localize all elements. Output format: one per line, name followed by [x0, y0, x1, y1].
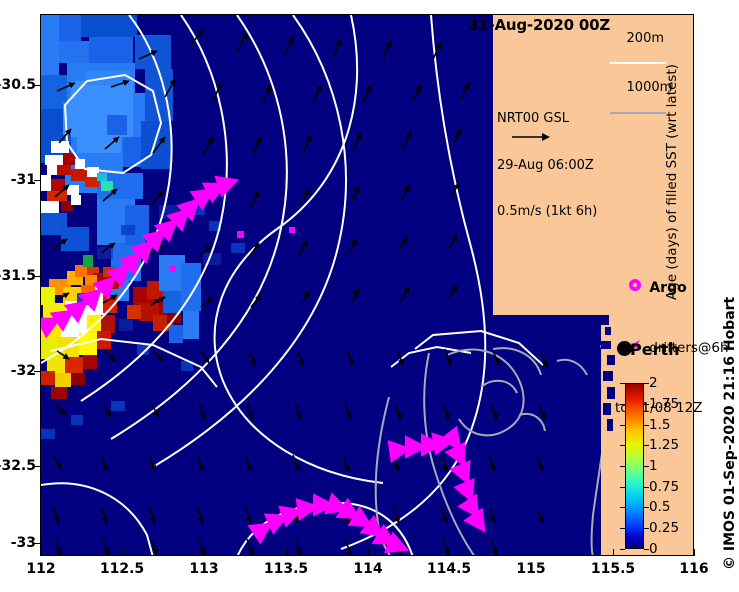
y-tick-label-32: -32	[11, 363, 36, 379]
colorbar-tick-0_75: 0.75	[649, 479, 679, 495]
x-tick-label-115_5: 115.5	[591, 561, 635, 577]
copyright-credit: © IMOS 01-Sep-2020 21:16 Hobart	[722, 297, 738, 570]
y-tick-label-31_5: -31.5	[0, 268, 36, 284]
current-reference-arrow-icon	[512, 128, 552, 147]
current-product-name: NRT00 GSL	[497, 111, 597, 127]
y-tick-label-32_5: -32.5	[0, 458, 36, 474]
colorbar-tick-1_5: 1.5	[649, 417, 670, 433]
sst-age-map-figure: 31-Aug-2020 00Z 200m 1000m NRT00 GSL 29-…	[0, 0, 739, 592]
depth-legend-200m-swatch	[610, 62, 666, 64]
depth-legend-200m-label: 200m	[627, 31, 664, 46]
current-product-legend: NRT00 GSL 29-Aug 06:00Z 0.5m/s (1kt 6h)	[497, 80, 597, 251]
colorbar-axis-label: Age (days) of filled SST (wrt latest)	[664, 64, 680, 300]
colorbar-tick-2: 2	[649, 375, 658, 391]
colorbar-tick-0_25: 0.25	[649, 520, 679, 536]
argo-marker-icon	[594, 258, 642, 318]
y-tick-label-33: -33	[11, 535, 36, 551]
colorbar-tick-0: 0	[649, 541, 658, 557]
x-tick-label-116: 116	[679, 561, 708, 577]
colorbar: 0 0.25 0.5 0.75 1 1.25 1.5 1.75 2	[625, 383, 644, 549]
colorbar-tick-1_75: 1.75	[649, 396, 679, 412]
x-tick-label-113: 113	[189, 561, 218, 577]
y-tick-label-30_5: -30.5	[0, 77, 36, 93]
colorbar-tick-1_25: 1.25	[649, 437, 679, 453]
depth-contour-legend: 200m 1000m	[610, 16, 672, 144]
x-tick-label-114: 114	[353, 561, 382, 577]
x-tick-label-112: 112	[26, 561, 55, 577]
x-tick-label-115: 115	[516, 561, 545, 577]
x-tick-label-112_5: 112.5	[100, 561, 144, 577]
current-scale-label: 0.5m/s (1kt 6h)	[497, 204, 597, 220]
map-title-date: 31-Aug-2020 00Z	[468, 16, 610, 34]
x-tick-label-114_5: 114.5	[427, 561, 471, 577]
colorbar-tick-0_5: 0.5	[649, 499, 670, 515]
y-tick-label-31: -31	[11, 172, 36, 188]
colorbar-tick-1: 1	[649, 458, 658, 474]
current-product-time: 29-Aug 06:00Z	[497, 158, 597, 174]
x-tick-label-113_5: 113.5	[264, 561, 308, 577]
depth-legend-1000m-swatch	[610, 112, 666, 114]
colorbar-gradient	[625, 383, 644, 549]
perth-city-label: Perth	[630, 340, 680, 359]
